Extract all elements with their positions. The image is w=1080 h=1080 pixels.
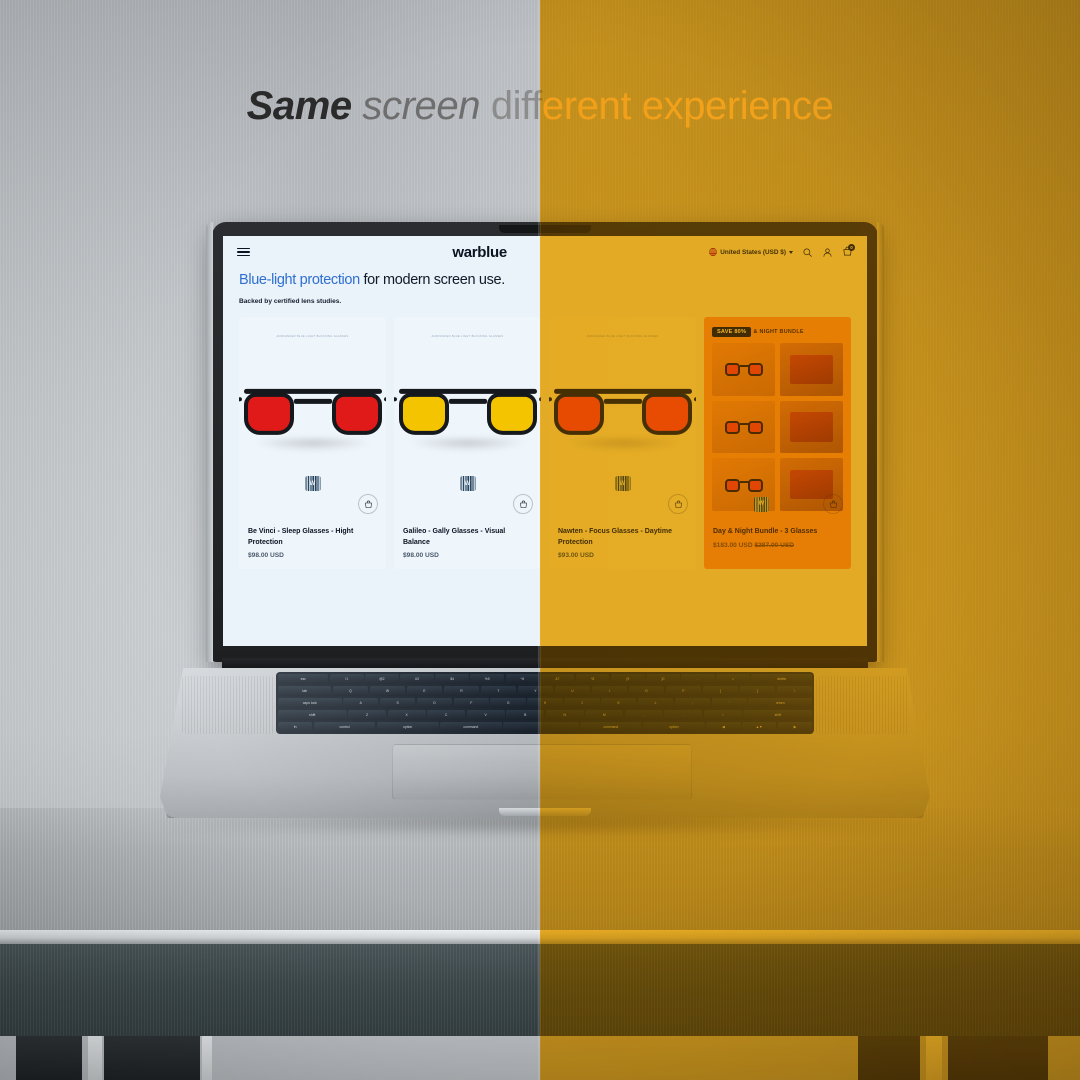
glasses-frame (240, 389, 386, 443)
floor-slat (948, 1036, 1048, 1080)
desk-front-panel (0, 944, 1080, 1036)
keyboard-key[interactable]: (9 (611, 674, 645, 684)
speaker-grille-left (182, 676, 274, 734)
product-media: ANDVANCED BLUE LIGHT BLOCKING GLASSES (394, 317, 541, 519)
keyboard-key[interactable]: ^6 (506, 674, 540, 684)
keyboard-key[interactable]: caps lock (278, 698, 342, 708)
hero-title-rest: for modern screen use. (360, 272, 505, 288)
keyboard-key[interactable]: fn (278, 722, 312, 732)
brand-mark-letter: W (310, 481, 316, 487)
keyboard-key[interactable]: / (704, 710, 742, 720)
keyboard-key[interactable]: L (638, 698, 673, 708)
glasses-bridge (604, 399, 642, 404)
glasses-illustration (395, 389, 541, 443)
product-price: $98.00 USD (248, 552, 377, 559)
lid-side-right (877, 222, 884, 662)
keyboard-key[interactable]: , (625, 710, 663, 720)
save-badge: SAVE 80% (712, 327, 751, 337)
laptop-screen: warblue United States (USD $) (223, 236, 867, 646)
cart-button[interactable]: 0 (842, 246, 853, 259)
bundle-case-cell (780, 343, 843, 396)
keyboard-key[interactable]: delete (751, 674, 812, 684)
keyboard-key[interactable]: option (643, 722, 705, 732)
keyboard-key[interactable]: J (564, 698, 599, 708)
product-grid: ANDVANCED BLUE LIGHT BLOCKING GLASSES (223, 305, 867, 569)
floor-slat (858, 1036, 920, 1080)
keyboard-key[interactable]: D (417, 698, 452, 708)
keyboard-row: tabQWERTYUIOP[]\ (278, 686, 812, 696)
brand-logo[interactable]: warblue (250, 244, 709, 261)
floor-slat (104, 1036, 200, 1080)
search-icon[interactable] (802, 247, 813, 258)
headline-word-diff: diff (491, 84, 542, 128)
keyboard[interactable]: esc!1@2#3$4%5^6&7*8(9)0-=deletetabQWERTY… (276, 672, 814, 734)
keyboard-key[interactable]: K (601, 698, 636, 708)
bundle-meta: Day & Night Bundle - 3 Glasses $183.00 U… (704, 519, 851, 559)
product-title: Be Vinci - Sleep Glasses - Hight Protect… (248, 527, 377, 548)
product-watermark: ANDVANCED BLUE LIGHT BLOCKING GLASSES (549, 335, 696, 338)
bundle-card[interactable]: SAVE 80% DAY & NIGHT BUNDLE (704, 317, 851, 569)
brand-mark-letter: W (465, 481, 471, 487)
keyboard-key[interactable]: - (681, 674, 715, 684)
glasses-shadow (409, 439, 527, 451)
glasses-bridge (294, 399, 332, 404)
glasses-lens-left (399, 393, 449, 435)
glasses-temple-left (239, 397, 242, 403)
keyboard-key[interactable]: H (527, 698, 562, 708)
keyboard-key[interactable]: *8 (576, 674, 610, 684)
keyboard-key[interactable]: ' (712, 698, 747, 708)
glasses-temple-left (394, 397, 397, 403)
add-to-cart-button[interactable] (668, 494, 688, 514)
bundle-price-current: $183.00 USD (713, 542, 753, 549)
hero-title-accent: Blue-light protection (239, 272, 360, 288)
product-meta: Be Vinci - Sleep Glasses - Hight Protect… (239, 519, 386, 569)
product-title: Nawten - Focus Glasses - Daytime Protect… (558, 527, 687, 548)
keyboard-key[interactable]: S (380, 698, 415, 708)
glasses-lens-right (487, 393, 537, 435)
keyboard-key[interactable]: . (664, 710, 702, 720)
floor-slat (202, 1036, 212, 1080)
cart-count-badge: 0 (848, 244, 855, 251)
shopping-bag-icon (674, 500, 683, 509)
keyboard-key[interactable]: ▲▼ (742, 722, 776, 732)
hero-subtitle: Backed by certified lens studies. (239, 298, 851, 305)
headline-word-erent-experience: erent experience (542, 84, 834, 128)
keyboard-key[interactable]: &7 (541, 674, 575, 684)
add-to-cart-button[interactable] (513, 494, 533, 514)
keyboard-key[interactable]: R (444, 686, 479, 696)
bundle-label-rest: BUNDLE (780, 329, 804, 335)
keyboard-key[interactable]: ▶ (778, 722, 812, 732)
glasses-shadow (254, 439, 372, 451)
keyboard-key[interactable]: control (314, 722, 376, 732)
keyboard-key[interactable]: T (481, 686, 516, 696)
add-to-cart-button[interactable] (823, 494, 843, 514)
keyboard-key[interactable]: )0 (646, 674, 680, 684)
bundle-media: W (704, 317, 851, 519)
keyboard-key[interactable]: P (666, 686, 701, 696)
site-topbar: warblue United States (USD $) (223, 236, 867, 268)
keyboard-key[interactable]: command (440, 722, 502, 732)
brand-mark-letter: W (620, 481, 626, 487)
user-icon[interactable] (822, 247, 833, 258)
hero-title: Blue-light protection for modern screen … (239, 272, 851, 288)
keyboard-row: esc!1@2#3$4%5^6&7*8(9)0-=delete (278, 674, 812, 684)
glasses-shadow (564, 439, 682, 451)
keyboard-key[interactable] (503, 722, 578, 732)
bundle-case-cell (780, 401, 843, 454)
keyboard-key[interactable]: [ (703, 686, 738, 696)
topbar-right: United States (USD $) (709, 246, 853, 259)
website: warblue United States (USD $) (223, 236, 867, 646)
keyboard-key[interactable]: B (506, 710, 544, 720)
product-card[interactable]: ANDVANCED BLUE LIGHT BLOCKING GLASSES (394, 317, 541, 569)
product-price: $98.00 USD (403, 552, 532, 559)
glasses-temple-right (538, 397, 541, 403)
flag-icon (709, 248, 717, 256)
glasses-illustration (724, 420, 764, 436)
glasses-frame (550, 389, 696, 443)
keyboard-key[interactable]: return (748, 698, 812, 708)
keyboard-key[interactable]: ; (675, 698, 710, 708)
keyboard-row: caps lockASDFGHJKL;'return (278, 698, 812, 708)
laptop-base: esc!1@2#3$4%5^6&7*8(9)0-=deletetabQWERTY… (160, 668, 930, 818)
glasses-lens-right (642, 393, 692, 435)
floor-slat (926, 1036, 942, 1080)
glasses-lens-left (244, 393, 294, 435)
glasses-illustration (724, 478, 764, 494)
keyboard-key[interactable]: = (716, 674, 750, 684)
glasses-illustration (724, 362, 764, 378)
bundle-row (712, 401, 843, 454)
laptop-lid: warblue United States (USD $) (212, 222, 878, 662)
shopping-bag-icon (829, 500, 838, 509)
product-watermark: ANDVANCED BLUE LIGHT BLOCKING GLASSES (394, 335, 541, 338)
keyboard-key[interactable]: X (388, 710, 426, 720)
speaker-grille-right (816, 676, 908, 734)
lid-side-left (206, 222, 213, 662)
keyboard-key[interactable]: ◀ (706, 722, 740, 732)
shopping-bag-icon (519, 500, 528, 509)
bundle-title: Day & Night Bundle - 3 Glasses (713, 527, 842, 538)
keyboard-key[interactable]: esc (278, 674, 328, 684)
keyboard-key[interactable]: shift (278, 710, 347, 720)
glasses-lens-left (554, 393, 604, 435)
floor-slat (88, 1036, 102, 1080)
keyboard-key[interactable]: ] (740, 686, 775, 696)
keyboard-key[interactable]: \ (777, 686, 812, 696)
glasses-lens-right (332, 393, 382, 435)
keyboard-key[interactable]: W (370, 686, 405, 696)
keyboard-key[interactable]: !1 (330, 674, 364, 684)
keyboard-row: fncontroloptioncommandcommandoption◀▲▼▶ (278, 722, 812, 732)
keyboard-key[interactable]: V (467, 710, 505, 720)
product-price: $93.00 USD (558, 552, 687, 559)
product-media: ANDVANCED BLUE LIGHT BLOCKING GLASSES (549, 317, 696, 519)
bundle-actions: W (704, 493, 851, 515)
glasses-brow-bar (554, 389, 692, 394)
keyboard-key[interactable]: F (454, 698, 489, 708)
keyboard-key[interactable]: @2 (365, 674, 399, 684)
keyboard-key[interactable]: C (427, 710, 465, 720)
add-to-cart-button[interactable] (358, 494, 378, 514)
keyboard-key[interactable]: Z (348, 710, 386, 720)
keyboard-key[interactable]: E (407, 686, 442, 696)
bundle-price: $183.00 USD $287.00 USD (713, 542, 842, 549)
keyboard-key[interactable]: $4 (435, 674, 469, 684)
bundle-row (712, 343, 843, 396)
brand-mark-letter: W (759, 501, 765, 507)
product-card[interactable]: ANDVANCED BLUE LIGHT BLOCKING GLASSES (239, 317, 386, 569)
product-card[interactable]: ANDVANCED BLUE LIGHT BLOCKING GLASSES (549, 317, 696, 569)
scene: Same screen different experience warblue (0, 0, 1080, 1080)
keyboard-row: shiftZXCVBNM,./shift (278, 710, 812, 720)
glasses-brow-bar (244, 389, 382, 394)
glasses-illustration (550, 389, 696, 443)
glasses-bridge (449, 399, 487, 404)
hero-section: Blue-light protection for modern screen … (223, 268, 867, 305)
product-watermark: ANDVANCED BLUE LIGHT BLOCKING GLASSES (239, 335, 386, 338)
glasses-temple-left (549, 397, 552, 403)
product-meta: Galileo - Gally Glasses - Visual Balance… (394, 519, 541, 569)
keyboard-key[interactable]: I (592, 686, 627, 696)
keyboard-key[interactable]: shift (743, 710, 812, 720)
laptop: warblue United States (USD $) (160, 222, 930, 822)
glasses-brow-bar (399, 389, 537, 394)
shopping-bag-icon (364, 500, 373, 509)
trackpad[interactable] (392, 744, 692, 800)
brand-mark-icon: W (305, 476, 320, 491)
bundle-glasses-cell (712, 401, 775, 454)
brand-mark-icon: W (615, 476, 630, 491)
glasses-frame (395, 389, 541, 443)
bundle-glasses-cell (712, 343, 775, 396)
country-label: United States (USD $) (720, 249, 786, 256)
hamburger-icon[interactable] (237, 248, 250, 257)
bundle-price-compare: $287.00 USD (754, 542, 794, 549)
headline-word-screen: screen (362, 84, 480, 128)
keyboard-key[interactable]: M (585, 710, 623, 720)
keyboard-key[interactable]: N (546, 710, 584, 720)
keyboard-key[interactable]: O (629, 686, 664, 696)
base-lip (499, 808, 591, 816)
product-media: ANDVANCED BLUE LIGHT BLOCKING GLASSES (239, 317, 386, 519)
keyboard-key[interactable]: G (490, 698, 525, 708)
webcam-notch (499, 225, 591, 233)
keyboard-key[interactable]: %5 (470, 674, 504, 684)
floor-slat (16, 1036, 82, 1080)
brand-mark-icon: W (460, 476, 475, 491)
country-selector[interactable]: United States (USD $) (709, 248, 793, 256)
keyboard-key[interactable]: U (555, 686, 590, 696)
headline: Same screen different experience (0, 84, 1080, 129)
glasses-temple-right (383, 397, 386, 403)
keyboard-key[interactable]: Y (518, 686, 553, 696)
keyboard-key[interactable]: A (343, 698, 378, 708)
keyboard-key[interactable]: command (580, 722, 642, 732)
glasses-temple-right (693, 397, 696, 403)
brand-mark-icon: W (754, 497, 769, 512)
headline-word-same: Same (247, 84, 352, 128)
keyboard-key[interactable]: #3 (400, 674, 434, 684)
product-meta: Nawten - Focus Glasses - Daytime Protect… (549, 519, 696, 569)
keyboard-key[interactable]: Q (333, 686, 368, 696)
glasses-illustration (240, 389, 386, 443)
keyboard-key[interactable]: tab (278, 686, 331, 696)
chevron-down-icon (789, 251, 793, 254)
product-title: Galileo - Gally Glasses - Visual Balance (403, 527, 532, 548)
desk-edge-highlight (0, 930, 1080, 944)
keyboard-key[interactable]: option (377, 722, 439, 732)
